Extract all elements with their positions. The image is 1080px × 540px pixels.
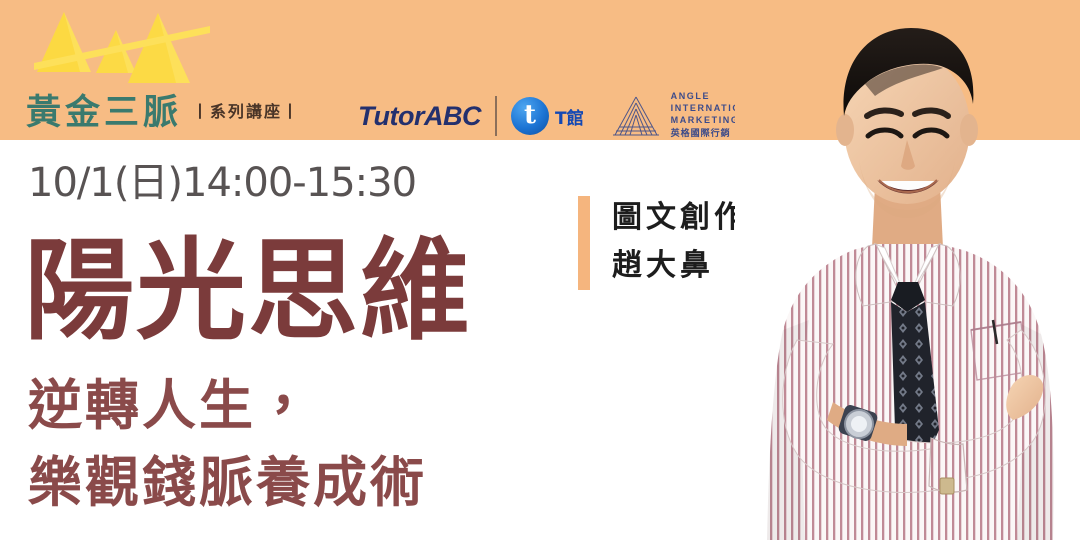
brand-series-label: 丨系列講座丨: [192, 104, 300, 120]
three-mountains-icon: [18, 6, 218, 91]
event-subtitle-line-1: 逆轉人生，: [28, 378, 313, 432]
tguan-mark-letter: t: [524, 102, 536, 128]
logo-divider: [495, 96, 497, 136]
event-title: 陽光思維: [24, 236, 472, 346]
brand-lockup: 黃金三脈 丨系列講座丨: [26, 86, 300, 138]
promo-banner: 黃金三脈 丨系列講座丨 TutorABC t T館: [0, 0, 1080, 540]
tguan-label: T館: [555, 104, 584, 129]
angle-triangle-icon: [610, 94, 662, 138]
partner-logos: TutorABC t T館: [358, 92, 764, 140]
brand-name: 黃金三脈: [26, 95, 182, 130]
tutorabc-logo: TutorABC: [358, 103, 481, 130]
tguan-logo: t T館: [511, 97, 584, 135]
speaker-portrait: [735, 0, 1080, 540]
event-datetime: 10/1(日)14:00-15:30: [28, 163, 416, 203]
event-subtitle-line-2: 樂觀錢脈養成術: [28, 455, 427, 509]
tguan-circle-icon: t: [511, 97, 549, 135]
speaker-accent-bar: [578, 196, 590, 290]
